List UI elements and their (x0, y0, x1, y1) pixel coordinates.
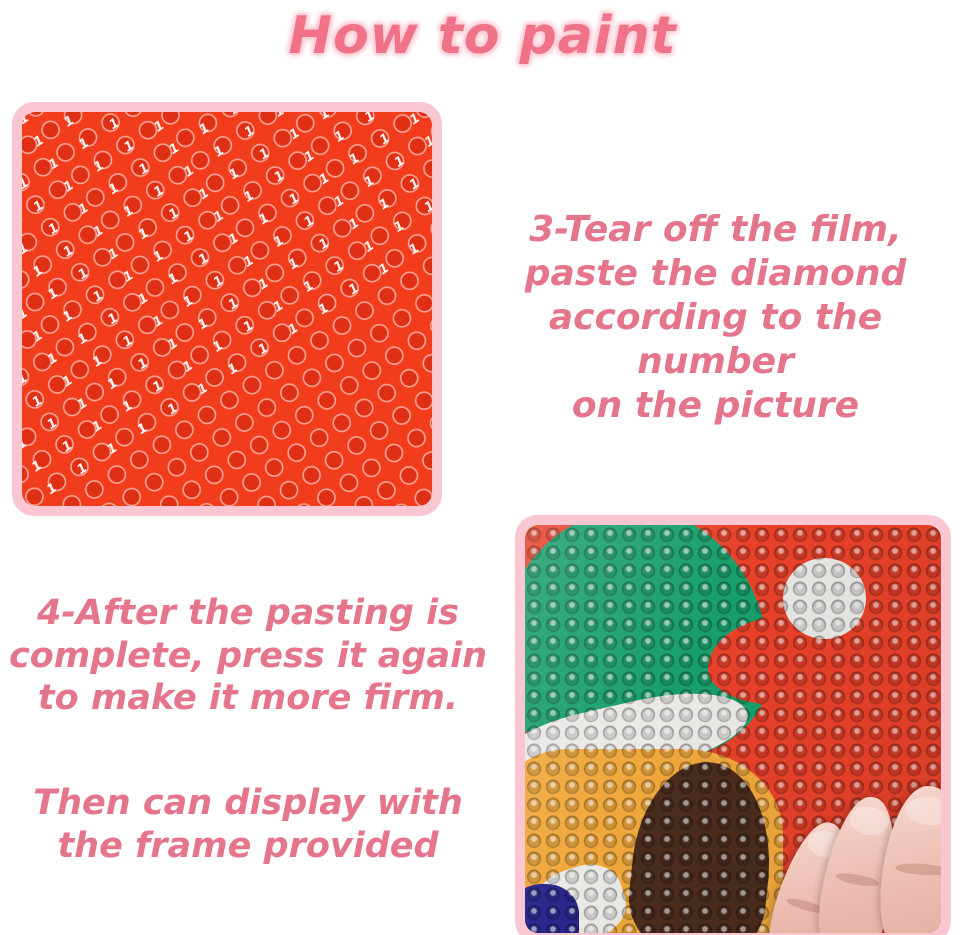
step-3-instruction-text: 3-Tear off the film, paste the diamond a… (466, 208, 965, 428)
finger-middle (810, 792, 908, 933)
step-4-followup-text: Then can display with the frame provided (2, 782, 494, 867)
fingernail (904, 795, 941, 827)
fingernail (805, 828, 846, 862)
step-4-instruction-text: 4-After the pasting is complete, press i… (2, 592, 494, 720)
finger-crease (895, 863, 941, 877)
number-grid-glyphs: 1 1 1 1 1 1 1 1 1 1 1 1 1 1 1 1 1 1 1 1 … (22, 112, 432, 506)
numbered-canvas-photo-inner: 1 1 1 1 1 1 1 1 1 1 1 1 1 1 1 1 1 1 1 1 … (22, 112, 432, 506)
fingernail (848, 804, 891, 838)
diamond-art-surface (525, 525, 941, 933)
hand-pressing-beads (775, 786, 941, 933)
printed-canvas-layer: 1 1 1 1 1 1 1 1 1 1 1 1 1 1 1 1 1 1 1 1 … (22, 112, 432, 506)
numbered-canvas-photo: 1 1 1 1 1 1 1 1 1 1 1 1 1 1 1 1 1 1 1 1 … (12, 102, 442, 516)
how-to-paint-infographic: How to paint 1 1 1 1 1 1 1 1 1 1 1 1 1 1… (0, 0, 965, 935)
finger-crease (786, 896, 827, 916)
page-title: How to paint (0, 6, 965, 66)
finished-santa-photo (515, 515, 951, 935)
santa-hat-pompom-shape (783, 558, 866, 640)
finger-crease (835, 871, 880, 889)
finished-santa-photo-inner (525, 525, 941, 933)
finger-index (876, 783, 941, 933)
